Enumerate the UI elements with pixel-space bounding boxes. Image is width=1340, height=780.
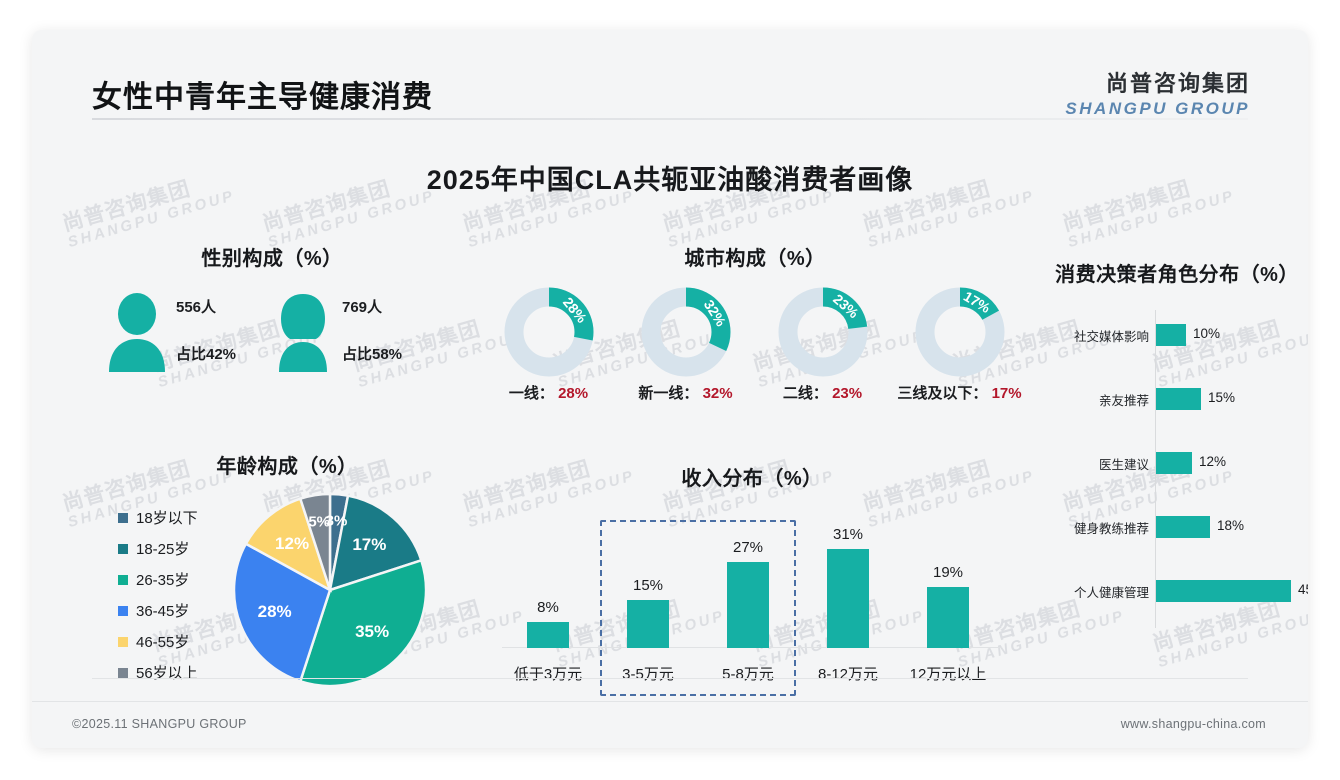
male-stats: 556人 占比42%	[176, 296, 268, 364]
legend-swatch	[118, 513, 128, 523]
donut-caption-value: 28%	[558, 385, 588, 402]
pie-value-label: 12%	[275, 534, 309, 554]
female-count: 769人	[342, 296, 434, 317]
income-bar-category: 8-12万元	[798, 663, 898, 684]
infographic-page: 尚普咨询集团SHANGPU GROUP尚普咨询集团SHANGPU GROUP尚普…	[0, 0, 1340, 780]
gender-item-male: 556人 占比42%	[102, 290, 268, 400]
legend-label: 46-55岁	[136, 631, 189, 652]
role-bar	[1156, 452, 1192, 474]
income-highlight-box	[600, 520, 796, 696]
donut-ring: 23%	[777, 286, 869, 378]
donut-ring: 32%	[640, 286, 732, 378]
pie-value-label: 28%	[258, 602, 292, 622]
legend-swatch	[118, 606, 128, 616]
age-pie-legend: 18岁以下18-25岁26-35岁36-45岁46-55岁56岁以上	[118, 502, 228, 688]
city-donut-3: 23%二线： 23%	[754, 286, 891, 412]
footer-copyright: ©2025.11 SHANGPU GROUP	[72, 717, 247, 731]
age-panel-title: 年龄构成（%）	[102, 450, 472, 479]
donut-caption: 一线： 28%	[480, 382, 617, 403]
role-label: 医生建议	[1027, 454, 1149, 473]
city-donut-4: 17%三线及以下： 17%	[891, 286, 1028, 412]
age-legend-item: 46-55岁	[118, 626, 228, 657]
age-pie-chart: 3%17%35%28%12%5%	[230, 490, 430, 690]
city-donut-row: 28%一线： 28%32%新一线： 32%23%二线： 23%17%三线及以下：…	[480, 286, 1030, 412]
role-row: 医生建议12%	[1027, 450, 1308, 476]
page-title: 女性中青年主导健康消费	[92, 72, 433, 116]
legend-label: 56岁以上	[136, 662, 198, 683]
role-row: 个人健康管理45%	[1027, 578, 1308, 604]
role-value: 45%	[1298, 582, 1308, 597]
chart-main-title: 2025年中国CLA共轭亚油酸消费者画像	[32, 158, 1308, 197]
city-panel-title: 城市构成（%）	[480, 242, 1030, 271]
income-distribution-panel: 收入分布（%） 8%低于3万元15%3-5万元27%5-8万元31%8-12万元…	[492, 462, 1012, 692]
legend-swatch	[118, 668, 128, 678]
income-bar-category: 12万元以上	[898, 663, 998, 684]
legend-label: 36-45岁	[136, 600, 189, 621]
pie-value-label: 35%	[355, 622, 389, 642]
logo-english-text: SHANGPU GROUP	[1065, 99, 1250, 119]
income-bar-value: 31%	[833, 526, 863, 543]
role-row: 社交媒体影响10%	[1027, 322, 1308, 348]
legend-swatch	[118, 544, 128, 554]
brand-logo: 尚普咨询集团 SHANGPU GROUP	[1065, 66, 1250, 119]
role-label: 亲友推荐	[1027, 390, 1149, 409]
donut-caption: 三线及以下： 17%	[891, 382, 1028, 403]
income-bar	[527, 622, 569, 648]
role-bar	[1156, 516, 1210, 538]
male-count: 556人	[176, 296, 268, 317]
role-bar	[1156, 580, 1291, 602]
gender-composition-panel: 性别构成（%） 556人 占比42%	[102, 242, 442, 402]
donut-ring: 28%	[503, 286, 595, 378]
age-legend-item: 18-25岁	[118, 533, 228, 564]
donut-caption-name: 新一线：	[638, 385, 702, 402]
role-value: 10%	[1193, 326, 1220, 341]
legend-swatch	[118, 637, 128, 647]
income-bar-value: 8%	[537, 599, 559, 616]
role-bar	[1156, 388, 1201, 410]
pie-value-label: 17%	[352, 535, 386, 555]
city-composition-panel: 城市构成（%） 28%一线： 28%32%新一线： 32%23%二线： 23%1…	[480, 242, 1030, 412]
decision-role-panel: 消费决策者角色分布（%） 社交媒体影响10%亲友推荐15%医生建议12%健身教练…	[1027, 258, 1308, 633]
male-icon	[106, 292, 168, 372]
role-bar	[1156, 324, 1186, 346]
role-value: 15%	[1208, 390, 1235, 405]
income-bar-chart: 8%低于3万元15%3-5万元27%5-8万元31%8-12万元19%12万元以…	[492, 506, 1012, 692]
slide-card: 尚普咨询集团SHANGPU GROUP尚普咨询集团SHANGPU GROUP尚普…	[32, 30, 1308, 748]
footer-bar: ©2025.11 SHANGPU GROUP www.shangpu-china…	[32, 701, 1308, 748]
donut-caption-value: 32%	[703, 385, 733, 402]
role-value: 18%	[1217, 518, 1244, 533]
role-label: 社交媒体影响	[1027, 326, 1149, 345]
donut-caption-name: 一线：	[509, 385, 558, 402]
logo-chinese-text: 尚普咨询集团	[1065, 66, 1250, 98]
donut-caption-value: 23%	[832, 385, 862, 402]
donut-caption: 新一线： 32%	[617, 382, 754, 403]
gender-items: 556人 占比42% 769人 占比58%	[102, 290, 442, 400]
age-composition-panel: 年龄构成（%） 18岁以下18-25岁26-35岁36-45岁46-55岁56岁…	[102, 450, 472, 690]
income-bar	[927, 587, 969, 648]
legend-swatch	[118, 575, 128, 585]
role-row: 亲友推荐15%	[1027, 386, 1308, 412]
income-bar-category: 低于3万元	[498, 663, 598, 684]
gender-item-female: 769人 占比58%	[268, 290, 434, 400]
female-share: 占比58%	[342, 343, 434, 364]
role-row: 健身教练推荐18%	[1027, 514, 1308, 540]
legend-label: 18岁以下	[136, 507, 198, 528]
donut-caption: 二线： 23%	[754, 382, 891, 403]
age-legend-item: 36-45岁	[118, 595, 228, 626]
female-stats: 769人 占比58%	[342, 296, 434, 364]
role-label: 健身教练推荐	[1027, 518, 1149, 537]
legend-label: 18-25岁	[136, 538, 189, 559]
role-value: 12%	[1199, 454, 1226, 469]
income-panel-title: 收入分布（%）	[492, 462, 1012, 491]
age-legend-item: 56岁以上	[118, 657, 228, 688]
legend-label: 26-35岁	[136, 569, 189, 590]
pie-value-label: 5%	[308, 513, 330, 530]
income-bar	[827, 549, 869, 648]
city-donut-1: 28%一线： 28%	[480, 286, 617, 412]
footer-website[interactable]: www.shangpu-china.com	[1121, 717, 1266, 731]
donut-caption-name: 二线：	[783, 385, 832, 402]
age-legend-item: 18岁以下	[118, 502, 228, 533]
roles-bar-chart: 社交媒体影响10%亲友推荐15%医生建议12%健身教练推荐18%个人健康管理45…	[1027, 300, 1308, 630]
slide-header: 女性中青年主导健康消费 尚普咨询集团 SHANGPU GROUP	[32, 30, 1308, 122]
donut-caption-value: 17%	[992, 385, 1022, 402]
footnote-divider	[92, 678, 1248, 679]
income-bar-value: 19%	[933, 564, 963, 581]
donut-ring: 17%	[914, 286, 1006, 378]
female-icon	[272, 292, 334, 372]
gender-panel-title: 性别构成（%）	[102, 242, 442, 271]
donut-caption-name: 三线及以下：	[897, 385, 991, 402]
male-share: 占比42%	[176, 343, 268, 364]
roles-panel-title: 消费决策者角色分布（%）	[1027, 258, 1308, 287]
age-legend-item: 26-35岁	[118, 564, 228, 595]
role-label: 个人健康管理	[1027, 582, 1149, 601]
city-donut-2: 32%新一线： 32%	[617, 286, 754, 412]
